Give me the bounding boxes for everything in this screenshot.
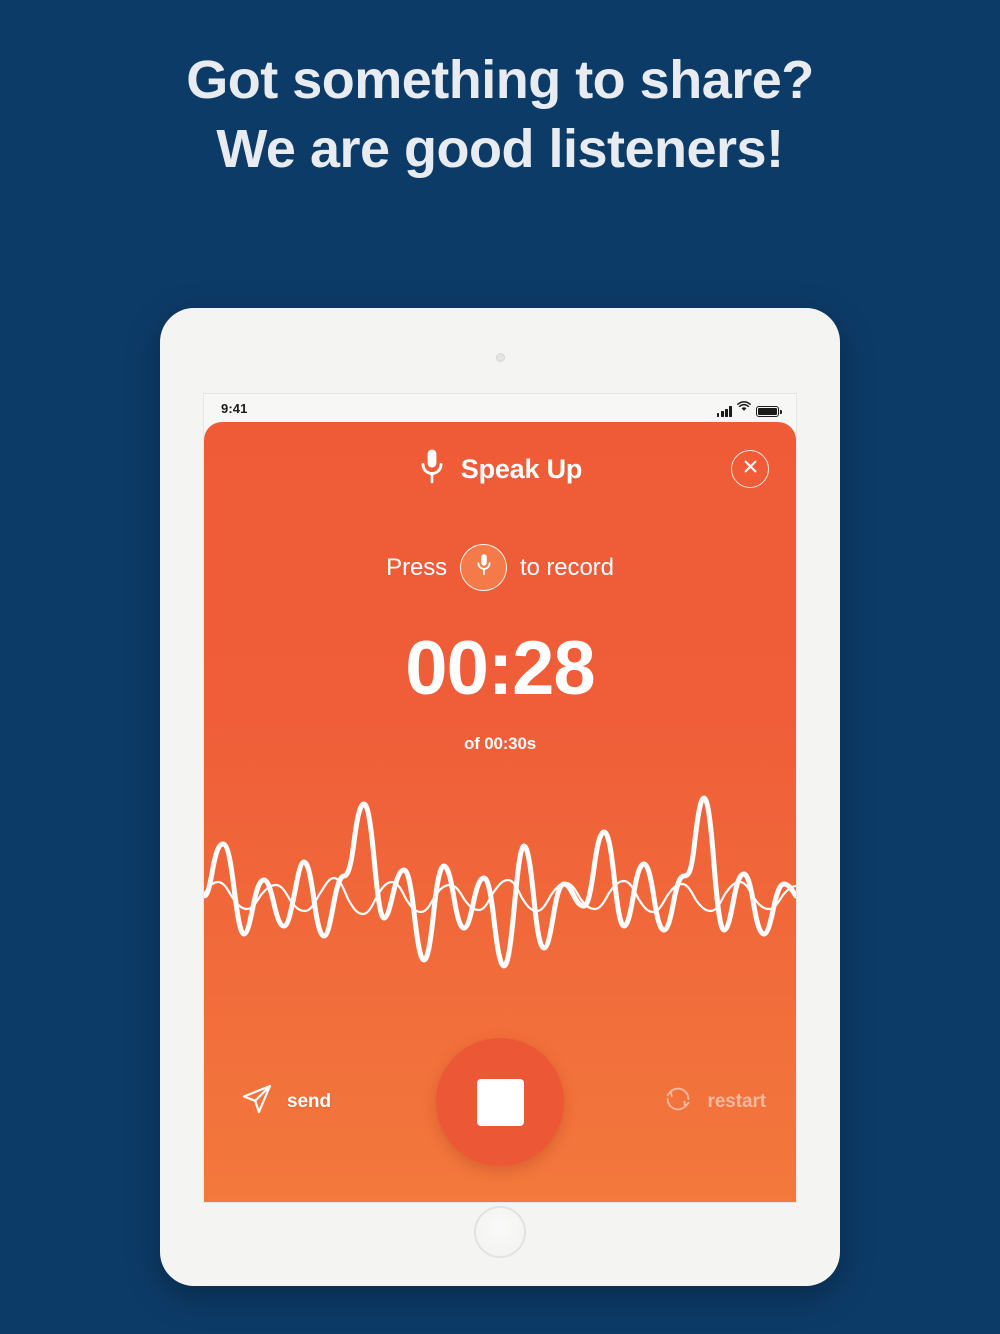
- recording-controls: send restart: [204, 1038, 796, 1166]
- restart-refresh-icon: [661, 1082, 695, 1121]
- page-headline: Got something to share? We are good list…: [0, 46, 1000, 183]
- recording-timer-total: of 00:30s: [204, 734, 796, 754]
- app-title-group: Speak Up: [204, 442, 796, 496]
- speak-up-app-panel: Speak Up Press: [204, 422, 796, 1202]
- wifi-icon: [737, 399, 751, 417]
- app-header: Speak Up: [204, 442, 796, 496]
- close-x-icon: [742, 458, 759, 480]
- send-label: send: [287, 1091, 331, 1113]
- press-prefix-label: Press: [386, 554, 447, 582]
- microphone-icon: [418, 448, 446, 491]
- press-to-record-row: Press to record: [204, 544, 796, 591]
- send-button[interactable]: send: [240, 1082, 331, 1121]
- battery-full-icon: [756, 406, 779, 417]
- recording-timer: 00:28: [204, 631, 796, 707]
- audio-waveform: [204, 778, 796, 1010]
- headline-line-1: Got something to share?: [0, 46, 1000, 115]
- stop-recording-button[interactable]: [436, 1038, 564, 1166]
- press-suffix-label: to record: [520, 554, 614, 582]
- cellular-bars-icon: [717, 406, 732, 417]
- home-button[interactable]: [474, 1206, 526, 1258]
- record-mic-button[interactable]: [460, 544, 507, 591]
- restart-label: restart: [708, 1091, 766, 1113]
- status-bar-time: 9:41: [221, 401, 247, 416]
- microphone-icon: [476, 553, 492, 583]
- tablet-device-frame: 9:41: [160, 308, 840, 1286]
- status-bar-icons: [717, 399, 779, 417]
- status-bar: 9:41: [204, 394, 796, 422]
- restart-button[interactable]: restart: [661, 1082, 766, 1121]
- front-camera-icon: [496, 353, 505, 362]
- headline-line-2: We are good listeners!: [0, 115, 1000, 184]
- stop-square-icon: [477, 1079, 524, 1126]
- close-button[interactable]: [731, 450, 769, 488]
- app-title: Speak Up: [461, 454, 582, 485]
- send-paper-plane-icon: [240, 1082, 274, 1121]
- device-screen: 9:41: [204, 394, 796, 1202]
